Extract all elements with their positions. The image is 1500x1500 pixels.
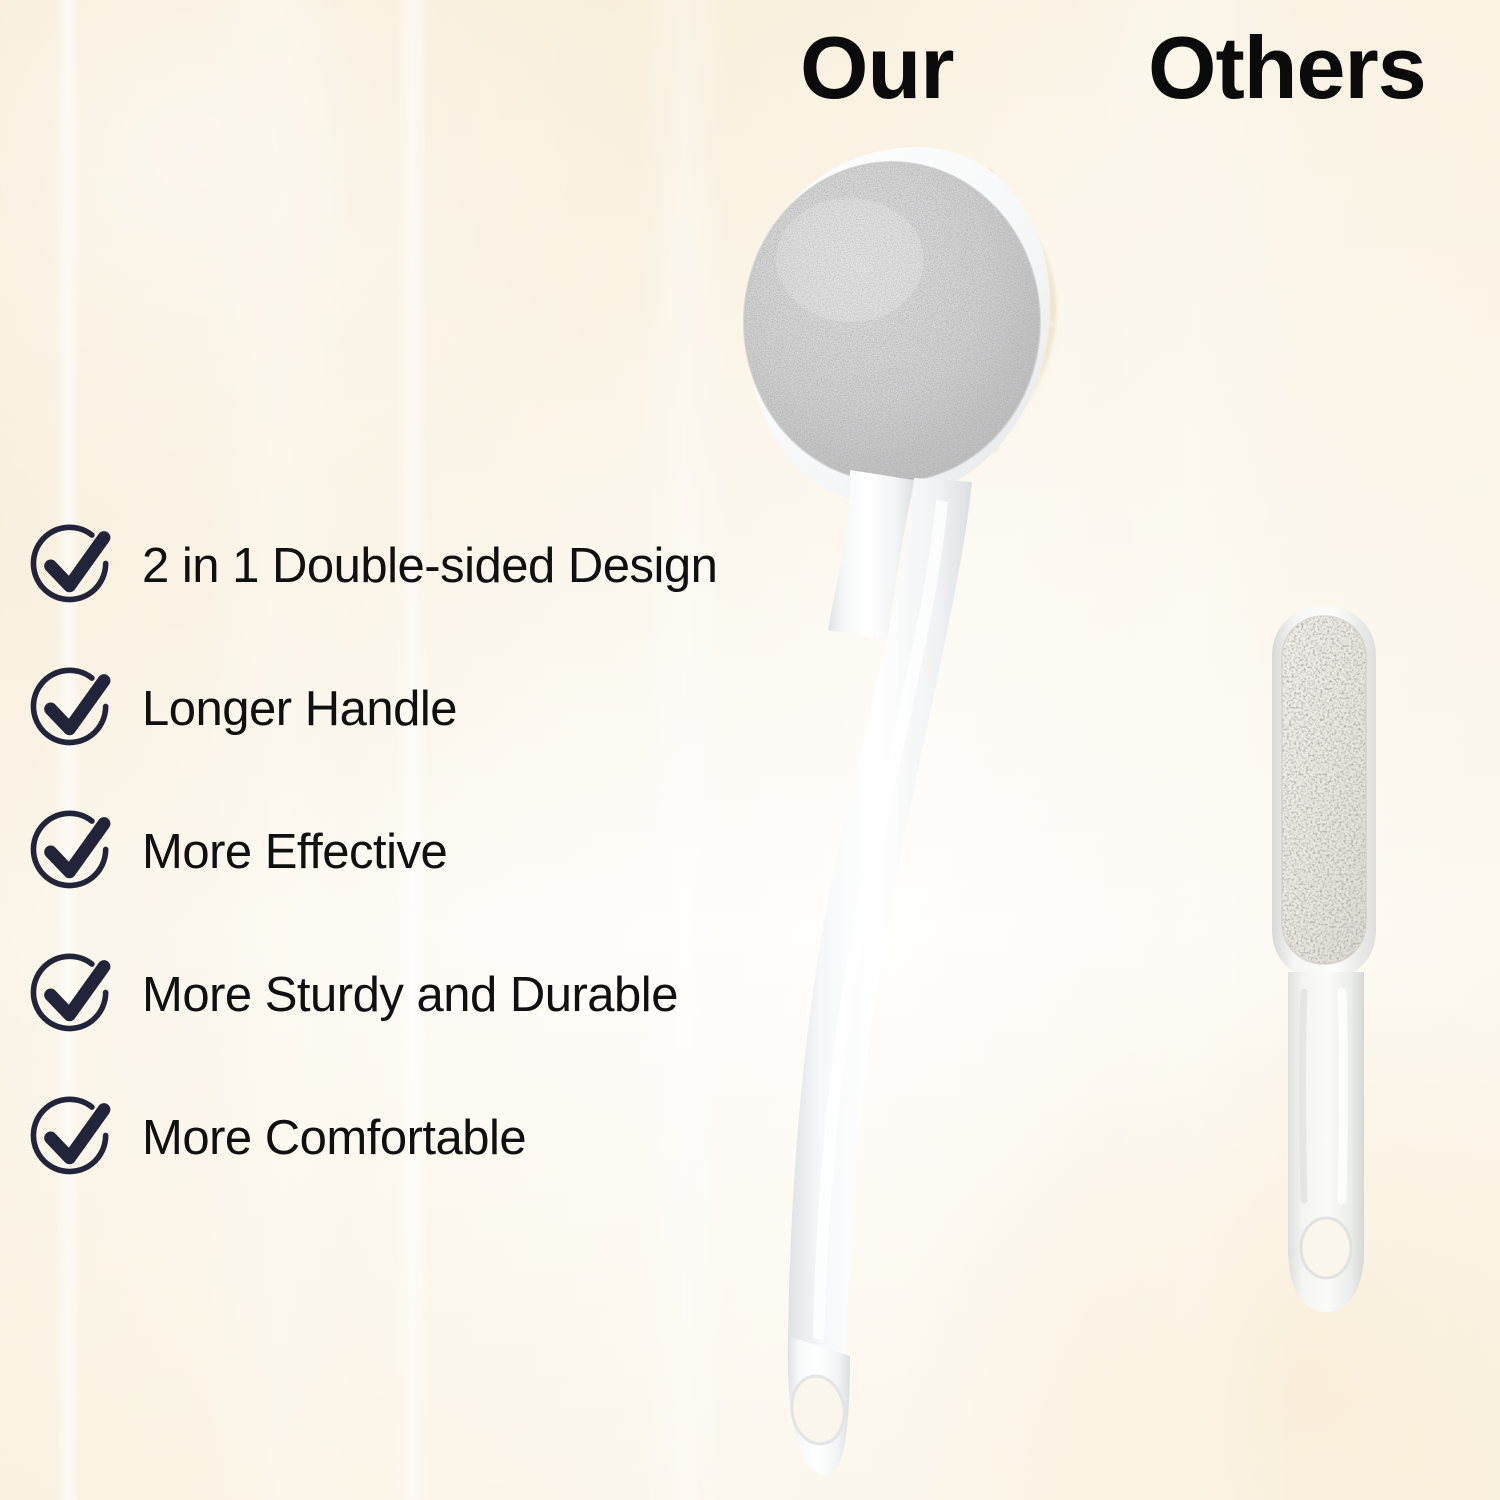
check-circle-icon <box>30 523 116 609</box>
feature-label: More Sturdy and Durable <box>142 967 678 1023</box>
check-circle-icon <box>30 666 116 752</box>
feature-label: Longer Handle <box>142 681 457 737</box>
check-circle-icon <box>30 809 116 895</box>
handle-highlight <box>1342 992 1344 1200</box>
feature-label: More Effective <box>142 824 447 880</box>
heading-others: Others <box>1148 24 1426 112</box>
feature-label: 2 in 1 Double-sided Design <box>142 538 717 594</box>
heading-our: Our <box>800 24 953 112</box>
handle-end-cap <box>787 1336 850 1476</box>
others-pumice-pad <box>1282 616 1366 964</box>
feature-label: More Comfortable <box>142 1110 526 1166</box>
check-circle-icon <box>30 952 116 1038</box>
product-comparison-image: Our Others 2 in 1 Double-sided Design Lo… <box>0 0 1500 1500</box>
our-product-image <box>700 110 1120 1500</box>
handle-grip-groove <box>1303 992 1305 1200</box>
check-circle-icon <box>30 1095 116 1181</box>
others-product-image <box>1230 600 1450 1330</box>
pumice-stone-pad <box>744 162 1040 482</box>
